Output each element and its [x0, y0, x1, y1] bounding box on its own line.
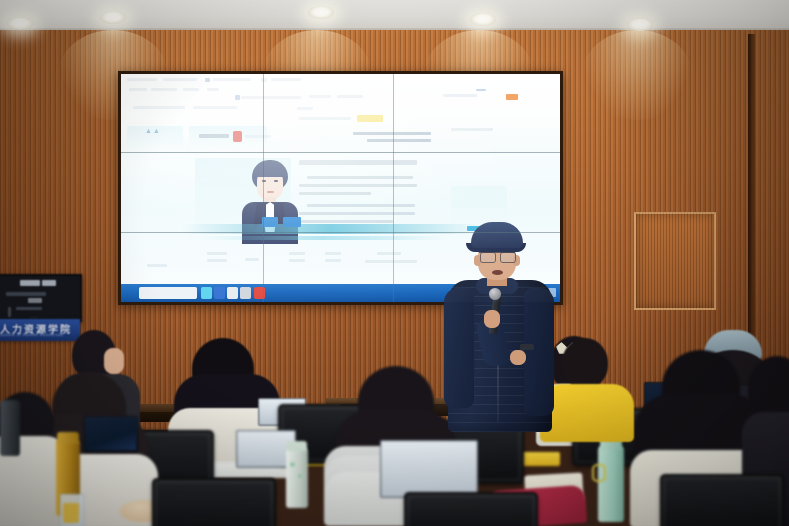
orange-badge: [506, 94, 518, 100]
downlight-icon-5: [7, 17, 33, 30]
chair-front-center[interactable]: [404, 492, 538, 526]
top-right-note: [451, 128, 493, 131]
toolbar-item-2[interactable]: [337, 95, 363, 98]
mint-thermos: [598, 446, 624, 522]
white-thermos-cap: [287, 441, 307, 451]
side-card-panel: [451, 186, 507, 226]
downlight-icon-3: [470, 13, 496, 26]
avatar-fringe: [255, 165, 285, 177]
nav-item-1[interactable]: [129, 88, 147, 91]
browser-tab-4: [271, 78, 301, 81]
drinking-glass: [60, 494, 84, 526]
browser-tab-1: [127, 78, 157, 81]
wall-access-panel: [634, 212, 716, 310]
thermos-sticker-2: [298, 474, 302, 478]
white-thermos: [286, 448, 308, 508]
speaker-arm-left: [444, 288, 474, 408]
taskbar-search-input[interactable]: [139, 287, 197, 299]
page-crumb-2: [193, 106, 237, 109]
chair-back: [666, 480, 778, 526]
caption-2-l2: [289, 259, 305, 262]
video-wall-bezel-v-1: [263, 74, 264, 302]
caption-4-l1: [377, 252, 401, 255]
laptop-row2-front[interactable]: [380, 440, 478, 498]
speaker-hand-holding-mic: [484, 310, 500, 328]
aux-monitor-row-1: [6, 292, 46, 296]
caption-6: [147, 264, 167, 267]
org-subtitle-text: [245, 135, 271, 138]
nav-item-2[interactable]: [151, 88, 177, 91]
nav-item-4[interactable]: [207, 88, 219, 91]
chair-back: [410, 498, 532, 526]
taskbar-icon-2[interactable]: [214, 287, 225, 299]
laptop-screen: [86, 418, 136, 450]
doc-kicker-line-2: [367, 139, 431, 142]
org-emblem-icon: ▲▲: [145, 128, 161, 135]
black-bottle-left: [0, 400, 20, 456]
aux-monitor-row-3: [16, 307, 42, 310]
gold-thermos-cap: [57, 432, 79, 444]
lecture-hall-photo: ▲▲: [0, 0, 789, 526]
caption-3-l1: [325, 252, 341, 255]
thermos-sticker-1: [290, 462, 295, 467]
speaker-person: [444, 222, 556, 432]
browser-page-header: [121, 74, 560, 152]
doc-paragraph-2-l1: [307, 204, 415, 207]
nav-item-3[interactable]: [183, 88, 199, 91]
caption-1-l1: [207, 252, 227, 255]
avatar-base-chip-right: [283, 217, 301, 227]
caption-2-l1: [289, 252, 305, 255]
speaker-arm-right: [524, 288, 554, 416]
avatar-base-chip-left: [262, 217, 278, 227]
speaker-mouth: [492, 270, 503, 275]
caption-1-l2: [207, 259, 227, 262]
search-highlight: [357, 115, 383, 122]
doc-paragraph-1-l3: [299, 192, 371, 195]
page-crumb-1: [133, 106, 185, 109]
lock-icon: [235, 95, 240, 100]
baseball-cap: [471, 222, 523, 248]
taskbar-icon-3[interactable]: [227, 287, 238, 299]
video-wall-bezel-h-1: [121, 152, 560, 153]
doc-paragraph-1-l1: [307, 176, 413, 179]
browser-tab-2: [163, 78, 197, 81]
toolbar-item-1[interactable]: [309, 95, 331, 98]
caption-5: [245, 258, 259, 261]
student-face-profile: [104, 348, 124, 374]
page-field-row: [299, 117, 351, 120]
doc-paragraph-2-l3: [299, 220, 393, 223]
avatar-mouth: [267, 191, 274, 193]
doc-kicker-line-1: [353, 132, 431, 135]
wristwatch: [520, 344, 534, 350]
caption-4-l2: [365, 260, 417, 263]
speaker-hand-right: [510, 350, 526, 365]
org-seal-icon: [233, 131, 242, 142]
video-wall-bezel-h-2: [121, 232, 560, 233]
avatar-eye-right: [274, 180, 278, 182]
chair-front-right[interactable]: [660, 474, 784, 526]
laptop-row2-far-left[interactable]: [84, 416, 138, 452]
microphone-head-icon[interactable]: [489, 288, 501, 300]
taskbar-icon-1[interactable]: [201, 287, 212, 299]
org-title-text: [199, 134, 229, 138]
downlight-icon-1: [100, 11, 126, 24]
aux-monitor-title-bar-2: [42, 280, 56, 286]
chair-front-left[interactable]: [152, 478, 276, 526]
page-label-small: [297, 107, 313, 110]
glass-contents: [63, 503, 79, 523]
address-bar-text[interactable]: [241, 96, 301, 99]
banner-title-en: School of Human Resources: [0, 332, 63, 337]
thermos-strap-loop: [592, 464, 606, 482]
aux-monitor-stand-line: [8, 307, 11, 317]
document-title: [299, 160, 417, 165]
auxiliary-monitor[interactable]: [0, 274, 82, 322]
browser-favicon: [205, 78, 210, 82]
avatar-stage-glow-2: [201, 236, 446, 240]
downlight-icon-4: [627, 18, 653, 31]
chair-back: [158, 484, 270, 526]
aux-monitor-title-bar: [20, 280, 40, 286]
caption-3-l2: [325, 259, 341, 262]
doc-paragraph-1-l2: [299, 184, 417, 187]
downlight-icon-2: [308, 6, 334, 19]
browser-tab-3: [213, 78, 251, 81]
taskbar-icon-4[interactable]: [240, 287, 251, 299]
glasses-bridge: [479, 252, 515, 262]
browser-tab-icon: [261, 78, 267, 82]
link-top-right[interactable]: [476, 89, 486, 91]
doc-paragraph-2-l2: [299, 212, 415, 215]
laptop-screen: [382, 442, 476, 496]
video-wall-bezel-v-2: [393, 74, 394, 302]
aux-monitor-row-2: [28, 298, 42, 303]
toolbar-item-3[interactable]: [443, 94, 477, 97]
